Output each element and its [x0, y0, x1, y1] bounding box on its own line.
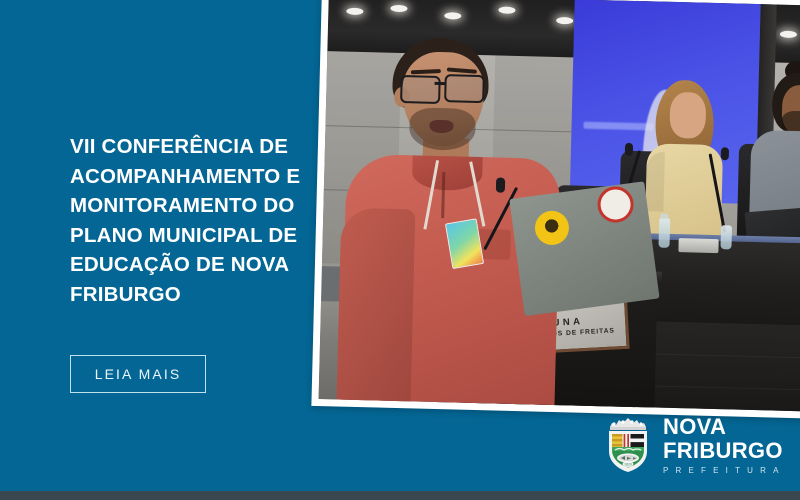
headline-block: VII CONFERÊNCIA DE ACOMPANHAMENTO E MONI…: [70, 132, 310, 309]
water-bottle-cap: [660, 214, 668, 219]
conference-photo-card: TRIBUNA LAURA MILHEIROS DE FREITAS: [311, 0, 800, 419]
ceiling-light: [780, 31, 797, 38]
ceiling-light: [498, 6, 515, 13]
desk-device: [678, 238, 718, 253]
speaker-mouth: [429, 120, 453, 134]
water-bottle: [720, 225, 732, 249]
ceiling-light: [390, 5, 407, 12]
logo-line-prefeitura: PREFEITURA: [663, 467, 786, 475]
logo-line-nova: NOVA: [663, 416, 786, 438]
logo-wordmark: NOVA FRIBURGO PREFEITURA: [663, 416, 786, 475]
speaker-laptop: [509, 181, 659, 316]
event-banner: TRIBUNA LAURA MILHEIROS DE FREITAS: [0, 0, 800, 500]
seated-woman-face: [669, 92, 706, 139]
page-title: VII CONFERÊNCIA DE ACOMPANHAMENTO E MONI…: [70, 132, 310, 309]
prefeitura-logo[interactable]: 1820 NOVA FRIBURGO PREFEITURA: [604, 414, 786, 476]
speaker-arm: [336, 208, 415, 412]
eyeglasses-lens: [444, 74, 485, 103]
water-bottle: [658, 218, 670, 248]
table-microphone-head: [625, 143, 633, 156]
logo-line-friburgo: FRIBURGO: [663, 440, 786, 462]
conference-photo: TRIBUNA LAURA MILHEIROS DE FREITAS: [319, 0, 800, 411]
laptop-sticker-yellow-emblem: [541, 217, 563, 239]
bottom-bar: [0, 491, 800, 500]
ceiling-light: [556, 17, 573, 24]
podium-microphone-head: [496, 177, 505, 192]
ceiling-light: [444, 12, 461, 19]
eyeglasses-bridge: [435, 82, 446, 85]
nova-friburgo-coat-of-arms-icon: 1820: [604, 414, 652, 476]
seated-woman-shoulder: [645, 151, 665, 211]
svg-text:1820: 1820: [624, 463, 632, 467]
table-microphone-head: [721, 147, 729, 160]
read-more-button[interactable]: LEIA MAIS: [70, 355, 206, 393]
ceiling-light: [346, 8, 363, 15]
eyeglasses-lens: [400, 75, 441, 104]
